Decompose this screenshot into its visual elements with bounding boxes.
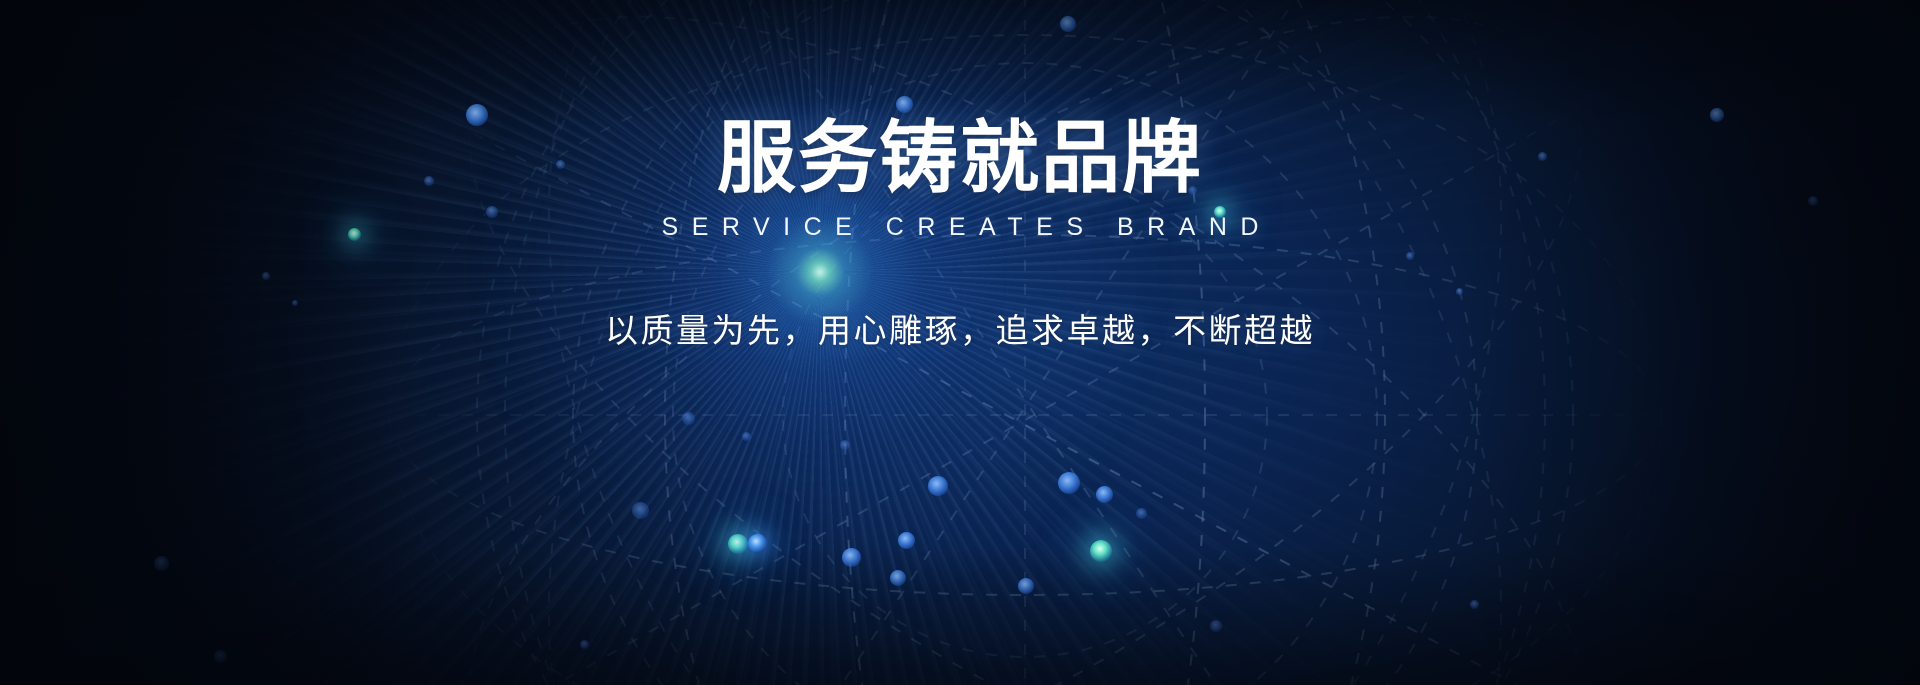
particle-dot xyxy=(580,640,589,649)
particle-dot xyxy=(1808,196,1818,206)
page-title: 服务铸就品牌 xyxy=(717,118,1203,199)
particle-dot xyxy=(1470,600,1479,609)
particle-dot xyxy=(486,206,498,218)
particle-dot xyxy=(1096,486,1113,503)
hero-banner: 服务铸就品牌 SERVICE CREATES BRAND 以质量为先，用心雕琢，… xyxy=(0,0,1920,685)
burst-halo xyxy=(490,0,1150,602)
particle-dot xyxy=(1456,288,1463,295)
particle-dot xyxy=(742,432,751,441)
particle-dot xyxy=(1022,146,1032,156)
particle-dot xyxy=(890,570,906,586)
particle-dot xyxy=(896,96,913,113)
edge-darkening-overlay xyxy=(0,0,1920,685)
particle-dot xyxy=(1210,620,1222,632)
particle-dot xyxy=(154,556,169,571)
particle-dot xyxy=(348,228,361,241)
particle-dot xyxy=(1090,540,1112,562)
particle-dot xyxy=(1710,108,1724,122)
page-subtitle: SERVICE CREATES BRAND xyxy=(648,213,1272,242)
particle-dot xyxy=(842,548,861,567)
vignette-overlay xyxy=(0,0,1920,685)
burst-core-glow xyxy=(630,82,1010,462)
particle-dot xyxy=(292,300,298,306)
particle-dot xyxy=(556,160,565,169)
particle-dot xyxy=(1060,16,1076,32)
particle-dot xyxy=(1188,186,1197,195)
particle-dot xyxy=(748,534,767,553)
particle-dot xyxy=(1136,508,1147,519)
particle-dot xyxy=(1406,252,1414,260)
particle-dot xyxy=(466,104,488,126)
particle-dot xyxy=(728,534,748,554)
particle-dot xyxy=(632,502,649,519)
burst-rays-primary xyxy=(200,0,1440,685)
particle-dot xyxy=(424,176,434,186)
globe-wireframe-decoration xyxy=(380,0,1670,685)
particle-dot xyxy=(1538,152,1547,161)
particle-dot xyxy=(840,440,850,450)
particle-dot xyxy=(928,476,948,496)
particle-dot xyxy=(214,650,227,663)
particle-dot xyxy=(898,532,915,549)
particle-dot xyxy=(1058,472,1080,494)
page-tagline: 以质量为先，用心雕琢，追求卓越，不断超越 xyxy=(605,304,1315,352)
particle-dot xyxy=(1018,578,1034,594)
burst-rays-secondary xyxy=(120,0,1520,685)
hero-text-block: 服务铸就品牌 SERVICE CREATES BRAND 以质量为先，用心雕琢，… xyxy=(0,0,1920,685)
particle-dot xyxy=(682,412,695,425)
particle-dot xyxy=(262,272,270,280)
particle-dot xyxy=(1214,206,1226,218)
